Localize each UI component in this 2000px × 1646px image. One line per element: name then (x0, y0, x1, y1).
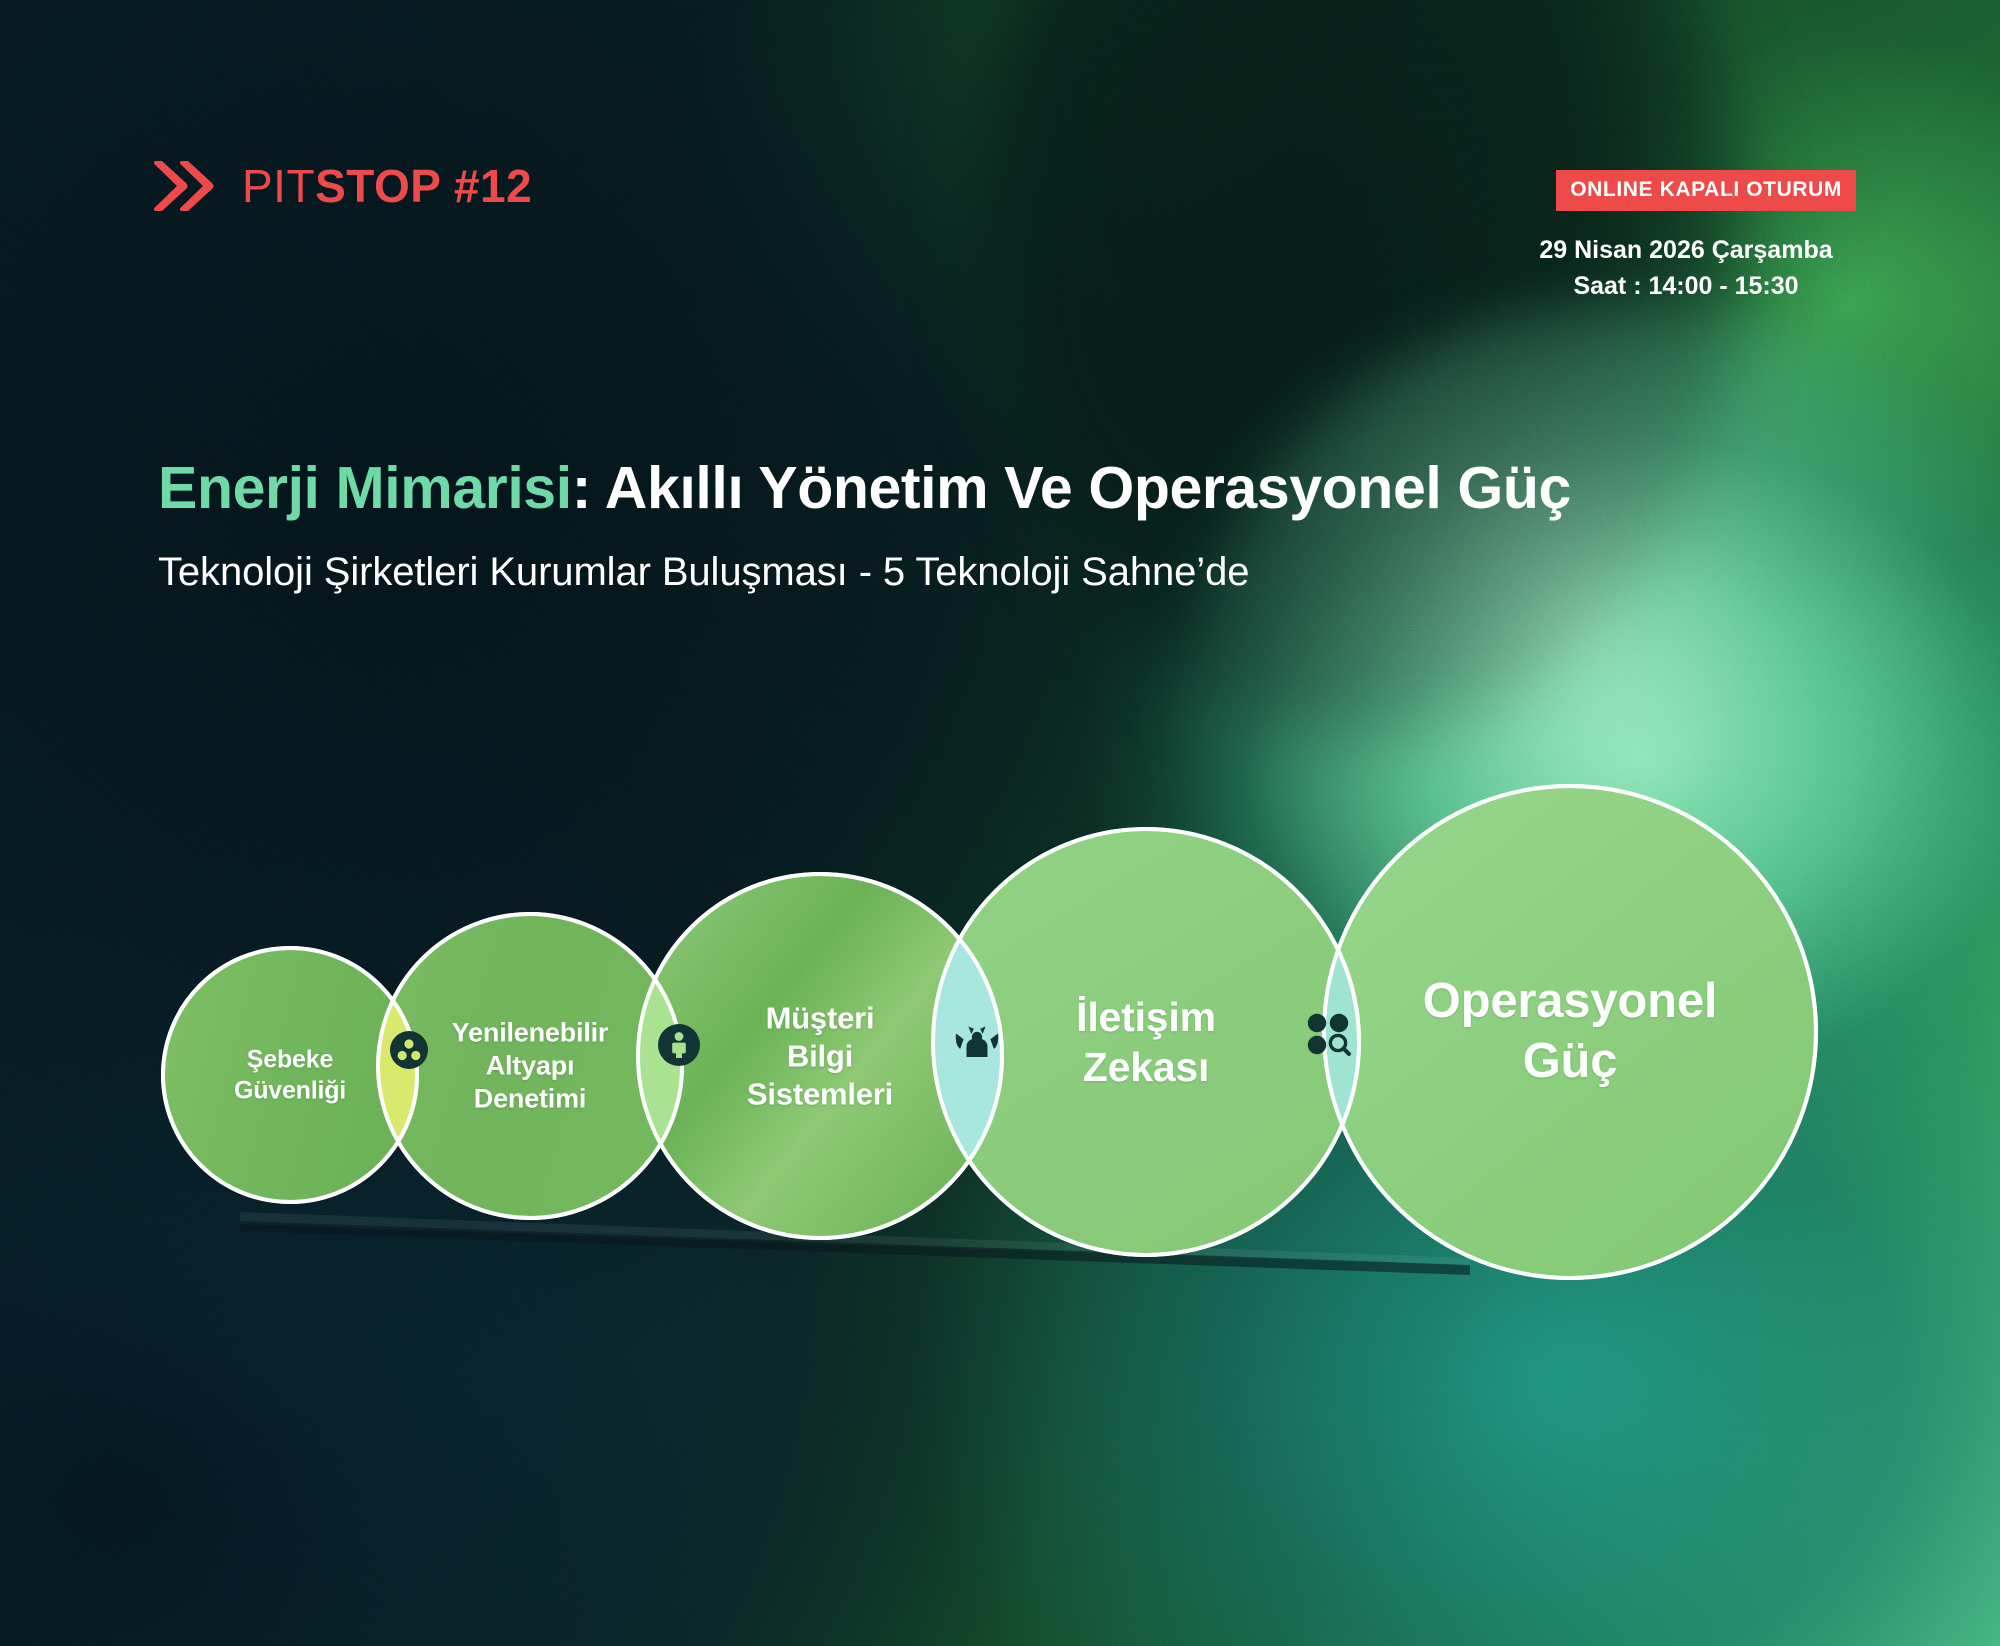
double-chevron-icon (152, 158, 222, 214)
title-accent-part: Enerji Mimarisi (158, 455, 572, 521)
page-title: Enerji Mimarisi: Akıllı Yönetim Ve Opera… (158, 455, 1571, 521)
event-time: Saat : 14:00 - 15:30 (1516, 268, 1856, 304)
poster-canvas: PITSTOP #12 ONLINE KAPALI OTURUM 29 Nisa… (0, 0, 2000, 1646)
brand-logo[interactable]: PITSTOP #12 (152, 158, 532, 214)
page-subtitle: Teknoloji Şirketleri Kurumlar Buluşması … (158, 548, 1249, 596)
logo-text-pit: PIT (242, 160, 315, 212)
event-date: 29 Nisan 2026 Çarşamba (1516, 232, 1856, 268)
status-badge: ONLINE KAPALI OTURUM (1556, 170, 1856, 211)
event-meta: 29 Nisan 2026 Çarşamba Saat : 14:00 - 15… (1516, 232, 1856, 305)
title-rest-part: : Akıllı Yönetim Ve Operasyonel Güç (572, 455, 1571, 521)
logo-wordmark: PITSTOP #12 (242, 163, 532, 209)
logo-text-stop: STOP #12 (315, 160, 532, 212)
